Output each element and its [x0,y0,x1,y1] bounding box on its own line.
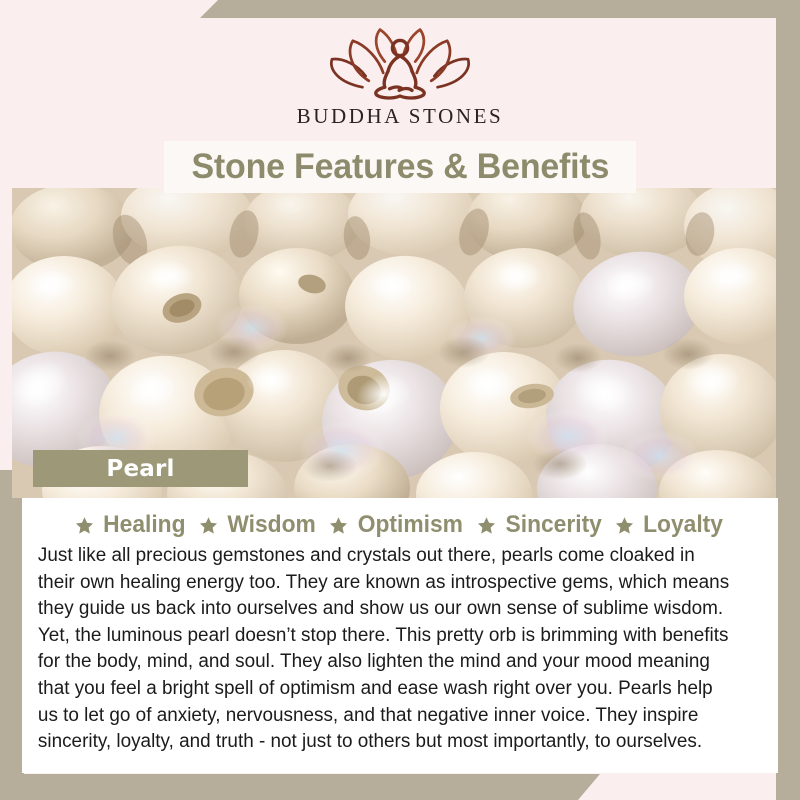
infographic-page: BUDDHA STONES Stone Features & Benefits [0,0,800,800]
benefit-item: Loyalty [615,511,725,539]
brand-wordmark: BUDDHA STONES [297,104,504,129]
star-icon [75,516,94,535]
benefit-label: Wisdom [227,511,315,539]
decorative-frame-bottom [0,774,800,800]
benefit-label: Loyalty [643,511,723,539]
content-panel: Healing Wisdom Optimism Sincerity Loyalt… [22,498,778,773]
page-title: Stone Features & Benefits [191,147,609,187]
benefit-item: Healing [75,511,188,539]
star-icon [199,516,218,535]
star-icon [477,516,496,535]
stone-name: Pearl [106,456,174,482]
benefit-item: Sincerity [477,511,604,539]
benefit-label: Healing [103,511,185,539]
star-icon [329,516,348,535]
stone-name-band: Pearl [33,450,248,487]
benefit-item: Optimism [329,511,466,539]
star-icon [615,516,634,535]
benefit-item: Wisdom [199,511,318,539]
benefit-label: Optimism [358,511,463,539]
benefits-list: Healing Wisdom Optimism Sincerity Loyalt… [36,510,764,540]
title-banner: Stone Features & Benefits [164,141,636,193]
benefit-label: Sincerity [505,511,601,539]
lotus-meditation-figure-icon [316,20,484,100]
stone-description: Just like all precious gemstones and cry… [36,542,739,755]
brand-header: BUDDHA STONES [0,0,800,143]
decorative-frame-left [0,470,24,800]
